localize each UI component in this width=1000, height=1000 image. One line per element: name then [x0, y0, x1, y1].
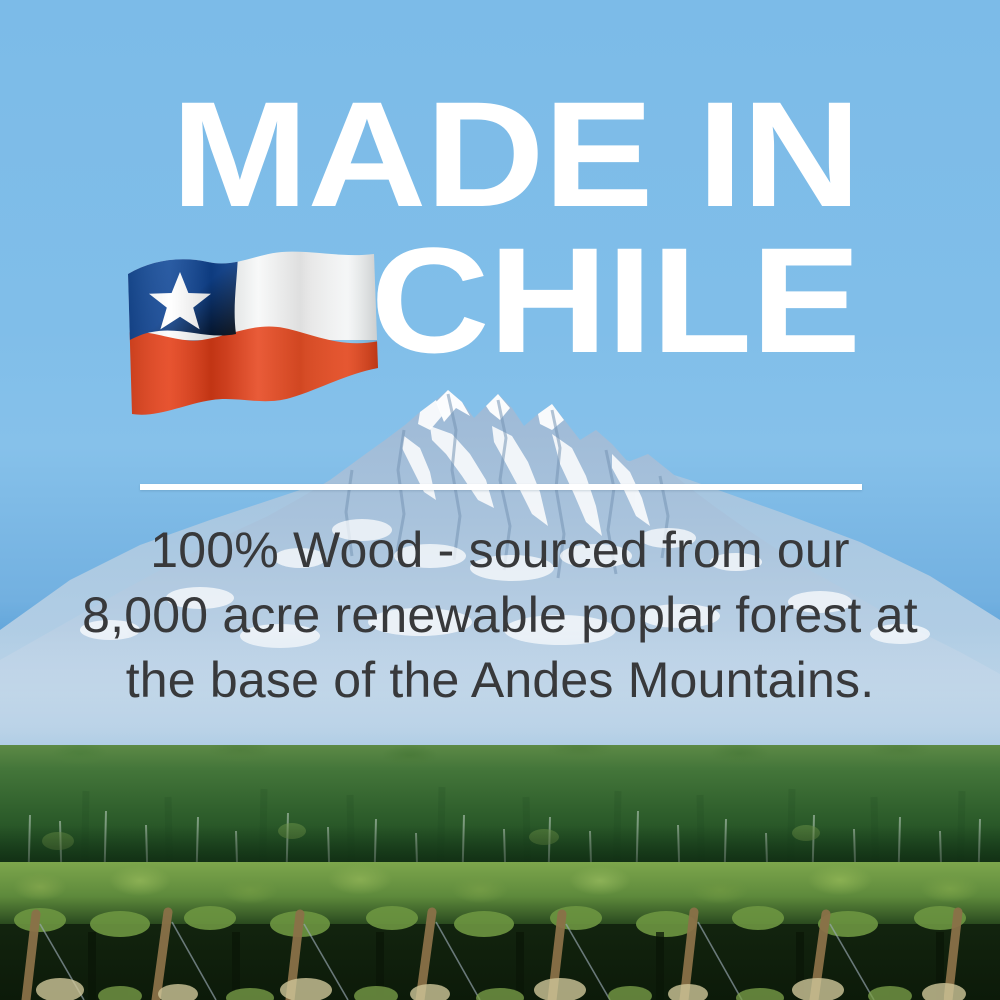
body-copy-line-2: 8,000 acre renewable poplar forest at	[60, 583, 940, 648]
chile-flag-icon	[122, 248, 384, 428]
vineyard-detail	[0, 862, 1000, 1000]
vineyard-rows	[0, 862, 1000, 1000]
body-copy-line-3: the base of the Andes Mountains.	[60, 648, 940, 713]
divider-rule	[140, 484, 862, 490]
body-copy-line-1: 100% Wood - sourced from our	[60, 518, 940, 583]
body-copy: 100% Wood - sourced from our 8,000 acre …	[60, 518, 940, 713]
made-in-chile-graphic: MADE IN CHILE	[0, 0, 1000, 1000]
